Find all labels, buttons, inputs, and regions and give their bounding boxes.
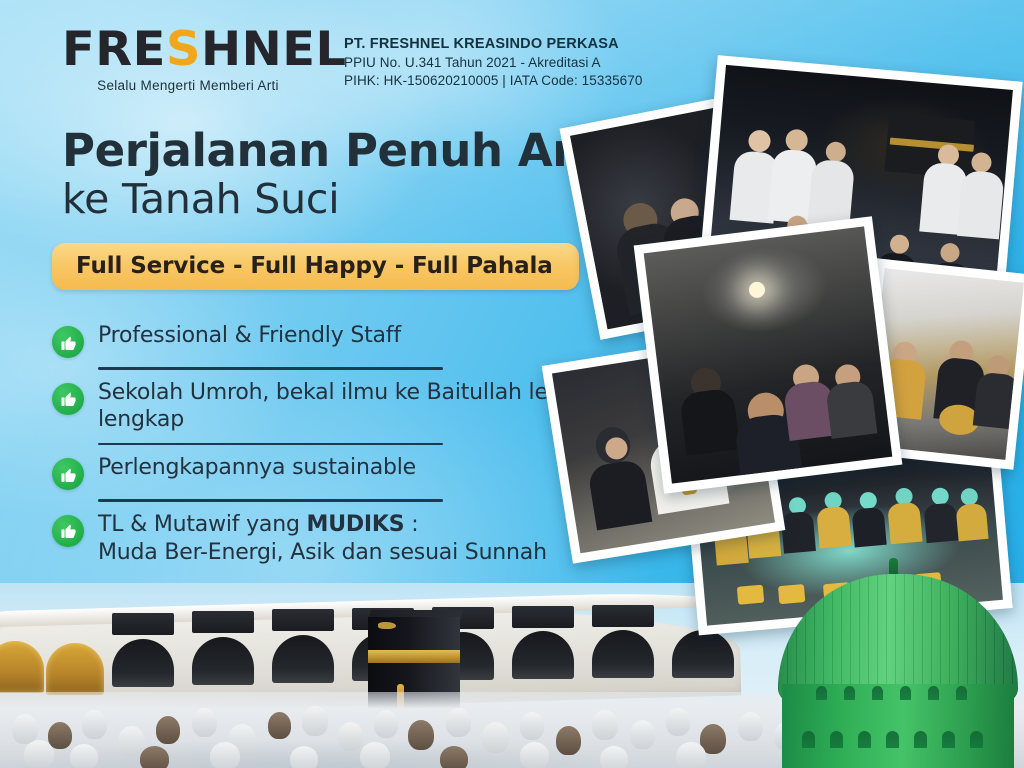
logo-text-highlight: S — [166, 22, 201, 77]
feature-text-4-line2: Muda Ber-Energi, Asik dan sesuai Sunnah — [98, 540, 547, 565]
feature-item-2: Sekolah Umroh, bekal ilmu ke Baitullah l… — [52, 379, 612, 434]
feature-text-1: Professional & Friendly Staff — [98, 322, 401, 350]
logo-text-part2: HNEL — [201, 22, 347, 77]
thumbs-up-icon — [52, 458, 84, 490]
promotional-poster: FRESHNEL Selalu Mengerti Memberi Arti PT… — [0, 0, 1024, 768]
feature-item-4: TL & Mutawif yang MUDIKS :Muda Ber-Energ… — [52, 511, 612, 566]
haram-window — [512, 606, 574, 628]
headline-line-1: Perjalanan Penuh Arti — [62, 128, 610, 175]
company-license: PPIU No. U.341 Tahun 2021 - Akreditasi A — [344, 55, 643, 70]
feature-text-4-bold: MUDIKS — [307, 512, 405, 537]
thumbs-up-icon — [52, 326, 84, 358]
feature-text-4-prefix: TL & Mutawif yang — [98, 512, 307, 537]
green-dome-masjid-nabawi — [756, 563, 1024, 768]
feature-text-4: TL & Mutawif yang MUDIKS :Muda Ber-Energ… — [98, 511, 547, 566]
haram-window — [112, 613, 174, 635]
brand-tagline: Selalu Mengerti Memberi Arti — [62, 78, 314, 93]
company-name: PT. FRESHNEL KREASINDO PERKASA — [344, 36, 643, 52]
feature-item-3: Perlengkapannya sustainable — [52, 454, 612, 490]
logo-wordmark: FRESHNEL — [62, 26, 319, 73]
feature-divider-1 — [98, 367, 443, 370]
haram-window — [192, 611, 254, 633]
kaaba-gold-emblem — [378, 622, 396, 629]
feature-divider-2 — [98, 443, 443, 446]
feature-text-2: Sekolah Umroh, bekal ilmu ke Baitullah l… — [98, 379, 612, 434]
photo-collage — [560, 80, 1024, 625]
haram-window — [272, 609, 334, 631]
photo-image — [644, 226, 893, 483]
feature-list: Professional & Friendly Staff Sekolah Um… — [52, 322, 612, 566]
collage-photo-cave-selfie — [634, 216, 903, 493]
headline-line-2: ke Tanah Suci — [62, 177, 610, 223]
feature-item-1: Professional & Friendly Staff — [52, 322, 612, 358]
thumbs-up-icon — [52, 383, 84, 415]
logo-text-part1: FRE — [62, 22, 166, 77]
service-badge: Full Service - Full Happy - Full Pahala — [52, 243, 579, 290]
haram-window — [592, 605, 654, 627]
feature-text-3: Perlengkapannya sustainable — [98, 454, 416, 482]
haram-gold-arch — [46, 643, 104, 695]
dome-ribbed-top — [778, 574, 1018, 702]
feature-divider-3 — [98, 499, 443, 502]
feature-text-4-suffix: : — [404, 512, 418, 537]
thumbs-up-icon — [52, 515, 84, 547]
brand-logo: FRESHNEL Selalu Mengerti Memberi Arti — [62, 26, 314, 93]
headline-block: Perjalanan Penuh Arti ke Tanah Suci — [62, 128, 610, 223]
kaaba-kiswah-band — [368, 650, 460, 663]
